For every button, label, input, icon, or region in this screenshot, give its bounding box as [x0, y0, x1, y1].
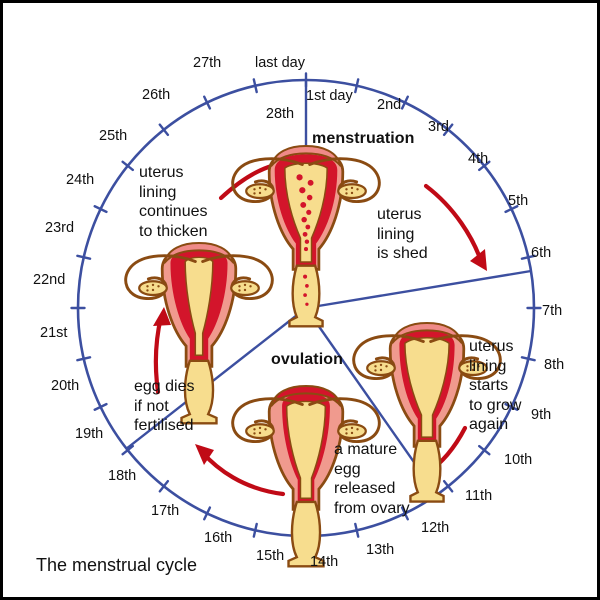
arrow-to-egg-dies	[202, 452, 283, 494]
phase-title-ovulation: ovulation	[271, 352, 343, 368]
note-egg-dies: egg dies if not fertilised	[134, 377, 195, 436]
day-label-18th: 18th	[108, 469, 136, 484]
day-label-17th: 17th	[151, 504, 179, 519]
day-label-15th: 15th	[256, 549, 284, 564]
day-label-14th: 14th	[310, 555, 338, 570]
phase-title-menstruation: menstruation	[312, 131, 415, 147]
day-label-9th: 9th	[531, 408, 551, 423]
day-label-7th: 7th	[542, 304, 562, 319]
day-tick-14th	[355, 524, 358, 537]
day-label-16th: 16th	[204, 531, 232, 546]
day-label-6th: 6th	[531, 246, 551, 261]
note-grow-again: uterus lining starts to grow again	[469, 337, 521, 435]
day-label-21st: 21st	[40, 326, 67, 341]
day-label-19th: 19th	[75, 427, 103, 442]
day-label-10th: 10th	[504, 453, 532, 468]
day-tick-9th	[522, 357, 535, 360]
day-label-26th: 26th	[142, 88, 170, 103]
day-label-13th: 13th	[366, 543, 394, 558]
figure-frame: last day 28th 1st day 2nd 3rd 4th 5th 6t…	[0, 0, 600, 600]
note-mature-egg: a mature egg released from ovary	[334, 440, 410, 518]
day-label-25th: 25th	[99, 129, 127, 144]
arrow-to-growth	[426, 186, 481, 261]
last-day-word: last day	[230, 55, 330, 72]
day-label-11th: 11th	[465, 489, 492, 504]
day-label-5th: 5th	[508, 194, 528, 209]
day-label-22nd: 22nd	[33, 273, 65, 288]
day-label-2nd: 2nd	[377, 98, 401, 113]
day-label-27th: 27th	[193, 56, 221, 71]
note-lining-shed: uterus lining is shed	[377, 205, 428, 264]
day-tick-2nd	[355, 79, 358, 92]
note-thicken: uterus lining continues to thicken	[139, 163, 208, 241]
day-label-4th: 4th	[468, 152, 488, 167]
figure-caption: The menstrual cycle	[36, 556, 197, 574]
diagram-stage: last day 28th 1st day 2nd 3rd 4th 5th 6t…	[3, 3, 597, 597]
day-tick-16th	[254, 524, 257, 537]
day-label-20th: 20th	[51, 379, 79, 394]
day-tick-23rd	[77, 256, 90, 259]
day-label-1st: 1st day	[306, 89, 353, 104]
day-label-8th: 8th	[544, 358, 564, 373]
day-tick-21st	[77, 357, 90, 360]
day-label-23rd: 23rd	[45, 221, 74, 236]
day-label-28: 28th	[230, 106, 330, 123]
day-label-3rd: 3rd	[428, 120, 449, 135]
day-label-12th: 12th	[421, 521, 449, 536]
day-label-24th: 24th	[66, 173, 94, 188]
